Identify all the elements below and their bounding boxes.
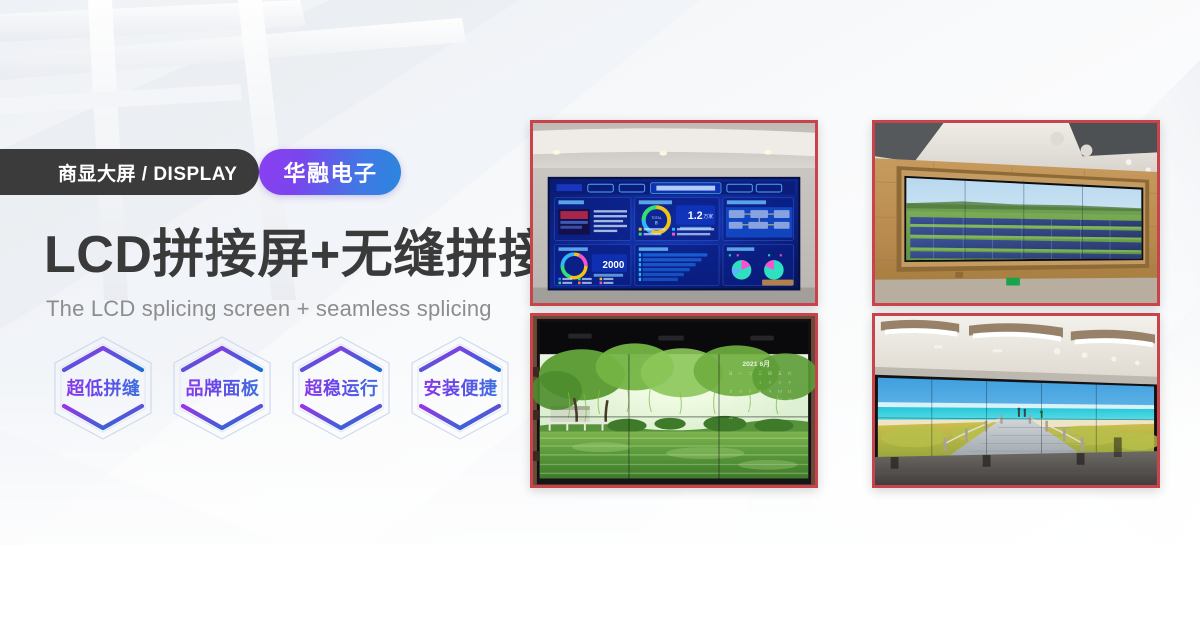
svg-text:14: 14 bbox=[748, 398, 752, 402]
feature-badge-row: 超低拼缝 品牌面板 bbox=[52, 334, 512, 442]
photo-garden-image: 2021 6月 日一二 三四五六 1234 5678 91011 1213141… bbox=[533, 316, 815, 487]
page-title: LCD拼接屏+无缝拼接 bbox=[44, 228, 551, 283]
hero-text-column: 商显大屏 / DISPLAY 华融电子 LCD拼接屏+无缝拼接 The LCD … bbox=[0, 0, 530, 640]
svg-text:12: 12 bbox=[729, 398, 733, 402]
svg-text:2000: 2000 bbox=[603, 260, 625, 271]
svg-text:三: 三 bbox=[758, 372, 762, 376]
svg-text:4: 4 bbox=[788, 381, 790, 385]
svg-text:10: 10 bbox=[778, 389, 782, 393]
svg-text:23: 23 bbox=[768, 407, 772, 411]
svg-text:3: 3 bbox=[779, 381, 781, 385]
svg-text:四: 四 bbox=[768, 372, 772, 376]
svg-text:8: 8 bbox=[759, 389, 761, 393]
feature-badge[interactable]: 品牌面板 bbox=[171, 334, 274, 442]
svg-text:一: 一 bbox=[739, 372, 743, 376]
page-subtitle: The LCD splicing screen + seamless splic… bbox=[46, 296, 492, 322]
svg-text:7: 7 bbox=[749, 389, 751, 393]
category-badge: 商显大屏 / DISPLAY bbox=[0, 149, 259, 195]
feature-badge-label: 安装便捷 bbox=[409, 374, 512, 400]
photo-beach-videowall[interactable] bbox=[872, 313, 1160, 488]
brand-badge-row: 商显大屏 / DISPLAY 华融电子 bbox=[48, 149, 401, 195]
photo-solar-farm-videowall[interactable] bbox=[872, 120, 1160, 306]
svg-text:1.2: 1.2 bbox=[688, 210, 703, 222]
photo-beach-image bbox=[875, 316, 1157, 487]
photo-garden-videowall[interactable]: 2021 6月 日一二 三四五六 1234 5678 91011 1213141… bbox=[530, 313, 818, 488]
feature-badge-label: 品牌面板 bbox=[171, 374, 274, 400]
svg-text:18: 18 bbox=[787, 398, 791, 402]
svg-text:17: 17 bbox=[778, 398, 782, 402]
photo-dashboard-image: TOTAL 数 1.2 万家 bbox=[533, 123, 815, 305]
svg-text:15: 15 bbox=[758, 398, 762, 402]
svg-text:19: 19 bbox=[729, 407, 733, 411]
svg-text:22: 22 bbox=[758, 407, 762, 411]
svg-text:5: 5 bbox=[730, 389, 732, 393]
feature-badge[interactable]: 超低拼缝 bbox=[52, 334, 155, 442]
feature-badge[interactable]: 安装便捷 bbox=[409, 334, 512, 442]
svg-text:五: 五 bbox=[778, 372, 782, 376]
svg-text:2021 6月: 2021 6月 bbox=[742, 360, 770, 368]
svg-text:21: 21 bbox=[748, 407, 752, 411]
brand-badge: 华融电子 bbox=[259, 149, 401, 195]
feature-badge-label: 超低拼缝 bbox=[52, 374, 155, 400]
svg-text:六: 六 bbox=[788, 371, 792, 376]
svg-text:万家: 万家 bbox=[703, 213, 713, 220]
svg-text:TOTAL: TOTAL bbox=[651, 216, 662, 220]
feature-badge[interactable]: 超稳运行 bbox=[290, 334, 393, 442]
svg-text:6: 6 bbox=[740, 389, 742, 393]
svg-text:16: 16 bbox=[768, 398, 772, 402]
photo-solar-farm-image bbox=[875, 123, 1157, 305]
svg-text:二: 二 bbox=[749, 372, 753, 376]
svg-text:2: 2 bbox=[769, 381, 771, 385]
svg-text:1: 1 bbox=[759, 381, 761, 385]
svg-text:20: 20 bbox=[738, 407, 742, 411]
svg-text:24: 24 bbox=[778, 407, 782, 411]
feature-badge-label: 超稳运行 bbox=[290, 374, 393, 400]
photo-dashboard-videowall[interactable]: TOTAL 数 1.2 万家 bbox=[530, 120, 818, 306]
svg-text:11: 11 bbox=[788, 389, 792, 393]
svg-text:25: 25 bbox=[787, 407, 791, 411]
svg-text:13: 13 bbox=[738, 398, 742, 402]
svg-text:日: 日 bbox=[729, 372, 733, 376]
svg-text:9: 9 bbox=[769, 389, 771, 393]
